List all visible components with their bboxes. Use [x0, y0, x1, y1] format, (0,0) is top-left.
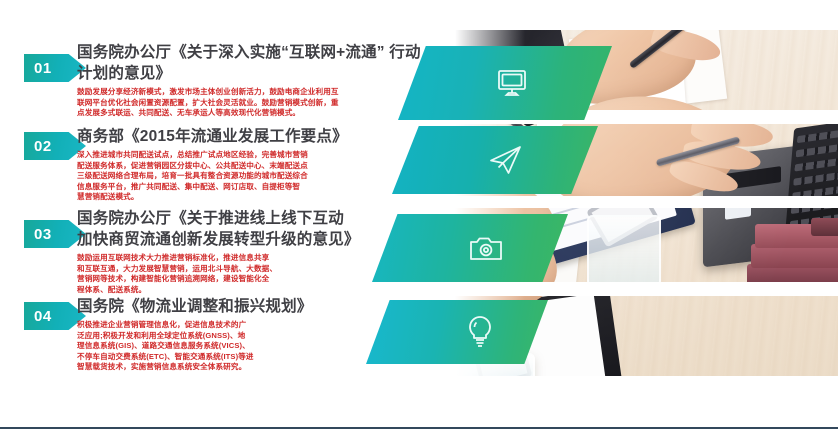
slide-canvas: 01 国务院办公厅《关于深入实施“互联网+流通” 行动 计划的意见》 鼓励发展分… [0, 0, 838, 429]
icon-band [398, 46, 612, 120]
item-body: 鼓励运用互联网技术大力推进营销标准化，推进信息共享 和互联互通，大力发展智慧营销… [77, 253, 427, 295]
item-heading: 国务院《物流业调整和振兴规划》 [77, 296, 427, 317]
item-text-column: 国务院办公厅《关于推进线上线下互动 加快商贸流通创新发展转型升级的意见》 鼓励运… [77, 208, 427, 295]
item-heading: 国务院办公厅《关于推进线上线下互动 加快商贸流通创新发展转型升级的意见》 [77, 208, 427, 250]
lightbulb-icon [462, 314, 498, 350]
monitor-icon [494, 65, 530, 101]
row-gap [340, 376, 838, 427]
icon-band [366, 300, 548, 364]
item-heading: 国务院办公厅《关于深入实施“互联网+流通” 行动 计划的意见》 [77, 42, 427, 84]
item-text-column: 商务部《2015年流通业发展工作要点》 深入推进城市共同配送试点，总结推广试点地… [77, 126, 427, 203]
icon-band [372, 214, 568, 282]
paper-plane-icon [488, 142, 524, 178]
row-gap [340, 0, 838, 30]
item-body: 鼓励发展分享经济新模式，激发市场主体创业创新活力，鼓励电商企业利用互 联网平台优… [77, 87, 427, 119]
icon-band [392, 126, 598, 194]
item-text-column: 国务院办公厅《关于深入实施“互联网+流通” 行动 计划的意见》 鼓励发展分享经济… [77, 42, 427, 119]
camera-icon [468, 230, 504, 266]
item-body: 深入推进城市共同配送试点，总结推广试点地区经验，完善城市营销 配送服务体系，促进… [77, 150, 427, 203]
item-heading: 商务部《2015年流通业发展工作要点》 [77, 126, 427, 147]
